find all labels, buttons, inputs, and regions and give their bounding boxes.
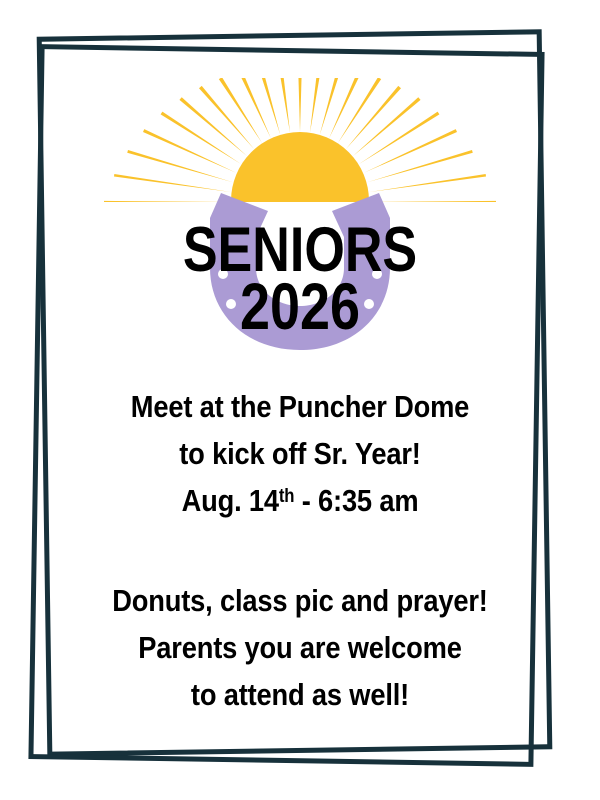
sun-ray xyxy=(353,97,421,156)
announcement-line: Parents you are welcome xyxy=(36,624,564,671)
announcement-line: Meet at the Puncher Dome xyxy=(36,383,564,430)
flyer-page: SENIORS 2026 Meet at the Puncher Dome to… xyxy=(0,0,600,800)
sun-ray xyxy=(367,150,473,182)
announcement-line: to kick off Sr. Year! xyxy=(36,430,564,477)
announcement-line: to attend as well! xyxy=(36,671,564,718)
seniors-2026-logo: SENIORS 2026 xyxy=(0,78,600,378)
announcement-line: Donuts, class pic and prayer! xyxy=(36,577,564,624)
sun-dome-icon xyxy=(231,132,369,202)
sun-ray xyxy=(179,97,247,156)
sun-ray xyxy=(143,129,236,173)
sun-ray xyxy=(310,78,322,133)
sun-ray xyxy=(364,129,457,173)
sun-ray xyxy=(127,150,233,182)
sun-ray xyxy=(259,78,281,135)
event-time: - 6:35 am xyxy=(294,483,418,518)
logo-title-year: 2026 xyxy=(240,269,360,344)
event-date: Aug. 14 xyxy=(182,483,279,518)
event-date-ordinal: th xyxy=(279,486,294,507)
sun-ray xyxy=(104,201,230,203)
announcement-block-secondary: Donuts, class pic and prayer! Parents yo… xyxy=(0,577,600,718)
horseshoe-nail-hole xyxy=(364,299,374,309)
event-date-time-line: Aug. 14th - 6:35 am xyxy=(36,477,564,524)
sun-ray xyxy=(370,201,496,203)
horseshoe-nail-hole xyxy=(226,299,236,309)
announcement-block-primary: Meet at the Puncher Dome to kick off Sr.… xyxy=(0,383,600,524)
logo-artwork: SENIORS 2026 xyxy=(90,78,510,378)
sun-ray xyxy=(320,78,342,135)
sun-ray xyxy=(278,78,290,133)
sun-ray xyxy=(298,78,302,132)
